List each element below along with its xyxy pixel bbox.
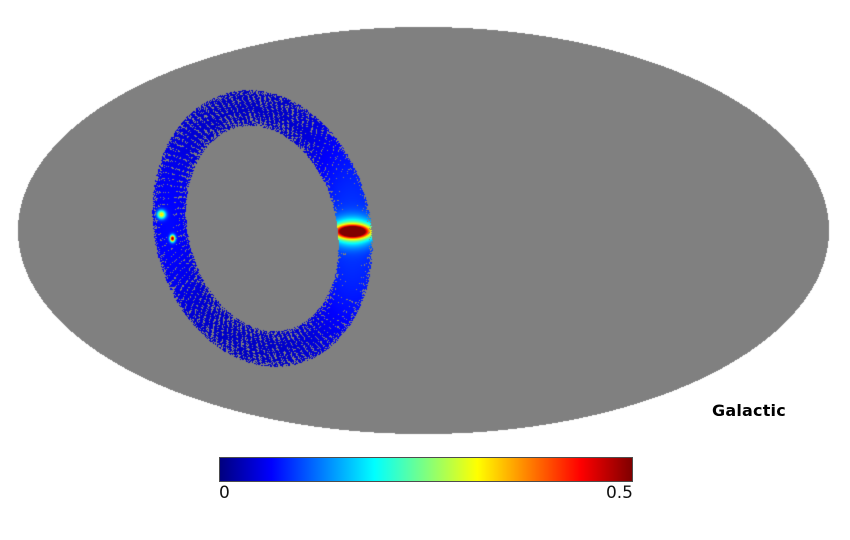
coordinate-system-label: Galactic: [712, 401, 786, 420]
colorbar-min-tick-label: 0: [219, 483, 230, 503]
colorbar[interactable]: 0 0.5: [219, 457, 633, 482]
sky-map-figure: I Stokes Galactic 0 0.5: [0, 0, 850, 540]
colorbar-gradient: [219, 457, 633, 482]
colorbar-max-tick-label: 0.5: [606, 483, 633, 503]
